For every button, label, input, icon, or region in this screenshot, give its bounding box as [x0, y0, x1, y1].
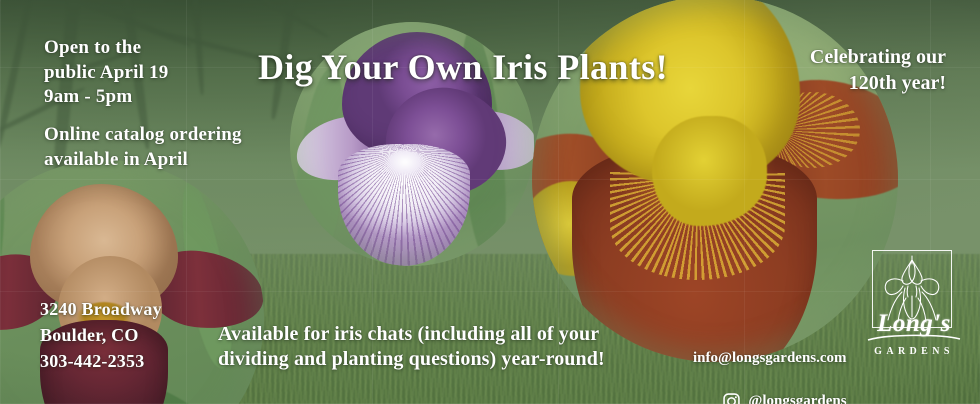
instagram-icon[interactable]: [722, 392, 741, 404]
page-title: Dig Your Own Iris Plants!: [258, 44, 668, 91]
open-hours-text: Open to the public April 19 9am - 5pm: [44, 36, 168, 110]
longs-gardens-banner: Open to the public April 19 9am - 5pm On…: [0, 0, 980, 404]
catalog-ordering-text: Online catalog ordering available in Apr…: [44, 123, 242, 172]
email-address[interactable]: info@longsgardens.com: [693, 348, 847, 369]
logo-swash-icon: [866, 334, 962, 344]
logo-subtitle: GARDENS: [862, 346, 966, 357]
contact-block: info@longsgardens.com @longsgardens: [693, 327, 847, 404]
address-text: 3240 Broadway Boulder, CO 303-442-2353: [40, 297, 162, 375]
anniversary-text: Celebrating our 120th year!: [810, 44, 946, 97]
longs-gardens-logo[interactable]: Long's GARDENS: [862, 250, 966, 374]
iris-chats-text: Available for iris chats (including all …: [218, 322, 605, 372]
instagram-handle[interactable]: @longsgardens: [748, 391, 846, 404]
